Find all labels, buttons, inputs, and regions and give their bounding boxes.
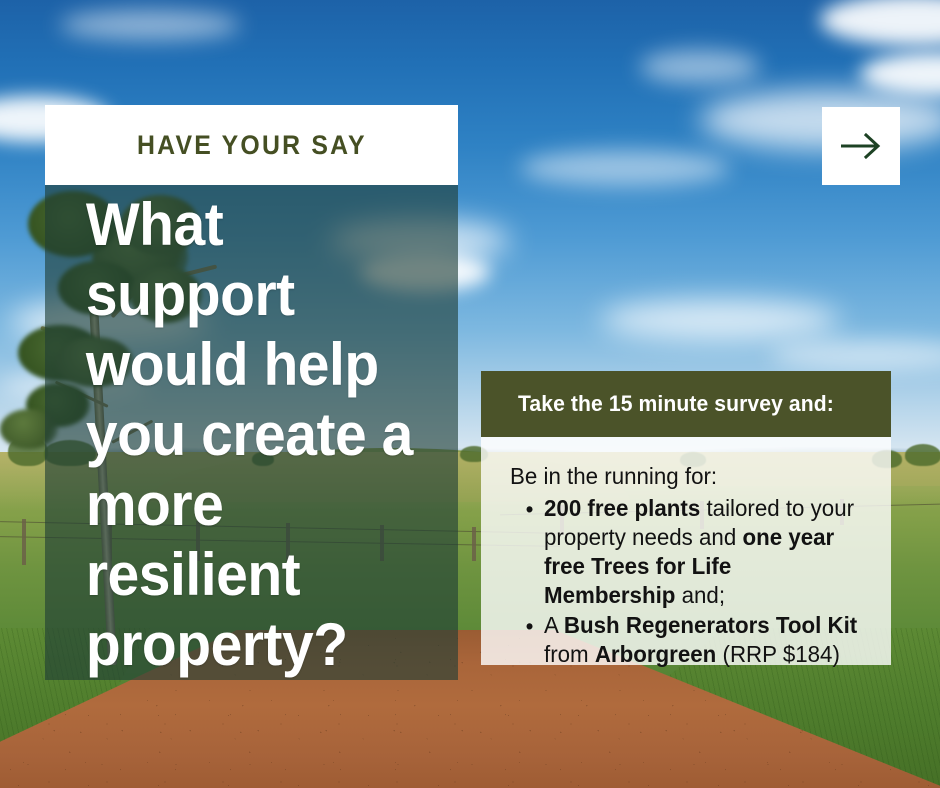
eyebrow-label: HAVE YOUR SAY bbox=[137, 130, 367, 161]
fence-post bbox=[472, 527, 476, 561]
body-text: A bbox=[544, 612, 564, 638]
body-text: and; bbox=[675, 582, 725, 608]
cloud bbox=[640, 50, 760, 84]
offer-card-header: Take the 15 minute survey and: bbox=[481, 371, 891, 437]
offer-header-text: Take the 15 minute survey and: bbox=[518, 391, 834, 417]
offer-card: Take the 15 minute survey and: Be in the… bbox=[481, 371, 891, 665]
cloud bbox=[60, 10, 240, 40]
cloud bbox=[600, 300, 840, 340]
emphasis-text: Bush Regenerators Tool Kit bbox=[564, 612, 857, 638]
cloud bbox=[520, 150, 730, 186]
promo-graphic: HAVE YOUR SAY What support would help yo… bbox=[0, 0, 940, 788]
distant-tree bbox=[905, 444, 940, 466]
page-title: What support would help you create a mor… bbox=[45, 190, 437, 680]
next-arrow-button[interactable] bbox=[822, 107, 900, 185]
offer-card-body: Be in the running for: •200 free plants … bbox=[481, 437, 891, 665]
emphasis-text: Arborgreen bbox=[595, 641, 716, 667]
prize-list: •200 free plants tailored to your proper… bbox=[510, 494, 875, 669]
list-item: •200 free plants tailored to your proper… bbox=[544, 494, 865, 610]
arrow-right-icon bbox=[839, 133, 883, 159]
bullet-icon: • bbox=[526, 612, 534, 641]
bullet-icon: • bbox=[526, 495, 534, 524]
offer-intro-text: Be in the running for: bbox=[510, 462, 864, 490]
body-text: from bbox=[544, 641, 595, 667]
list-item: •A Bush Regenerators Tool Kit from Arbor… bbox=[544, 611, 865, 669]
body-text: (RRP $184) bbox=[716, 641, 840, 667]
emphasis-text: 200 free plants bbox=[544, 495, 700, 521]
eyebrow-banner: HAVE YOUR SAY bbox=[45, 105, 458, 185]
